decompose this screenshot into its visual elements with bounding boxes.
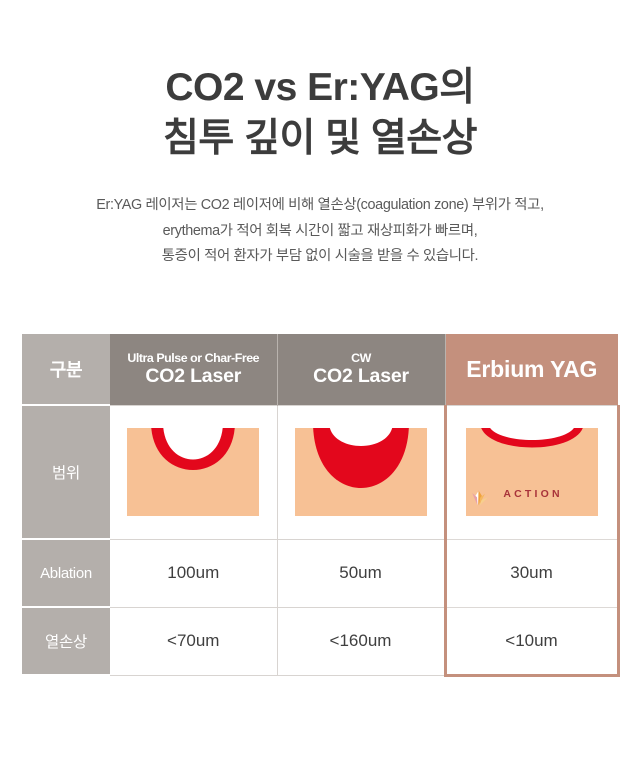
cell-thermal-erbium-yag: <10um: [445, 607, 618, 675]
page-title-line-1: CO2 vs Er:YAG의: [0, 62, 640, 113]
table-row-ablation: Ablation 100um 50um 30um: [22, 539, 618, 607]
header-sub-co2-cw: CW: [278, 351, 445, 365]
cell-range-co2-ultrapulse: [110, 405, 277, 539]
erbium-yag-diagram: ACTION: [466, 428, 598, 516]
header-cell-label: 구분: [22, 334, 110, 405]
table-row-thermal-damage: 열손상 <70um <160um <10um: [22, 607, 618, 675]
description-paragraph: Er:YAG 레이저는 CO2 레이저에 비해 열손상(coagulation …: [0, 193, 640, 270]
cell-ablation-co2-cw: 50um: [277, 539, 445, 607]
cell-thermal-co2-ultrapulse: <70um: [110, 607, 277, 675]
infographic-page: CO2 vs Er:YAG의 침투 깊이 및 열손상 Er:YAG 레이저는 C…: [0, 0, 640, 757]
header-cell-co2-cw: CW CO2 Laser: [277, 334, 445, 405]
cell-range-co2-cw: [277, 405, 445, 539]
row-label-range: 범위: [22, 405, 110, 539]
co2-cw-diagram: [295, 428, 427, 516]
row-label-ablation: Ablation: [22, 539, 110, 607]
comparison-table-wrapper: 구분 Ultra Pulse or Char-Free CO2 Laser CW…: [22, 334, 618, 677]
header-cell-co2-ultrapulse: Ultra Pulse or Char-Free CO2 Laser: [110, 334, 277, 405]
page-title: CO2 vs Er:YAG의 침투 깊이 및 열손상: [0, 0, 640, 165]
cell-thermal-co2-cw: <160um: [277, 607, 445, 675]
table-row-range: 범위: [22, 405, 618, 539]
header-main-co2-ultrapulse: CO2 Laser: [110, 366, 277, 388]
comparison-table: 구분 Ultra Pulse or Char-Free CO2 Laser CW…: [22, 334, 620, 677]
row-label-thermal-damage: 열손상: [22, 607, 110, 675]
description-line-3: 통증이 적어 환자가 부담 없이 시술을 받을 수 있습니다.: [0, 244, 640, 270]
cell-ablation-co2-ultrapulse: 100um: [110, 539, 277, 607]
page-title-line-2: 침투 깊이 및 열손상: [0, 113, 640, 164]
description-line-2: erythema가 적어 회복 시간이 짧고 재상피화가 빠르며,: [0, 219, 640, 245]
cell-ablation-erbium-yag: 30um: [445, 539, 618, 607]
table-header-row: 구분 Ultra Pulse or Char-Free CO2 Laser CW…: [22, 334, 618, 405]
header-sub-co2-ultrapulse: Ultra Pulse or Char-Free: [110, 351, 277, 365]
co2-ultrapulse-diagram: [127, 428, 259, 516]
header-cell-erbium-yag: Erbium YAG: [445, 334, 618, 405]
header-main-co2-cw: CO2 Laser: [278, 366, 445, 388]
cell-range-erbium-yag: ACTION: [445, 405, 618, 539]
description-line-1: Er:YAG 레이저는 CO2 레이저에 비해 열손상(coagulation …: [0, 193, 640, 219]
